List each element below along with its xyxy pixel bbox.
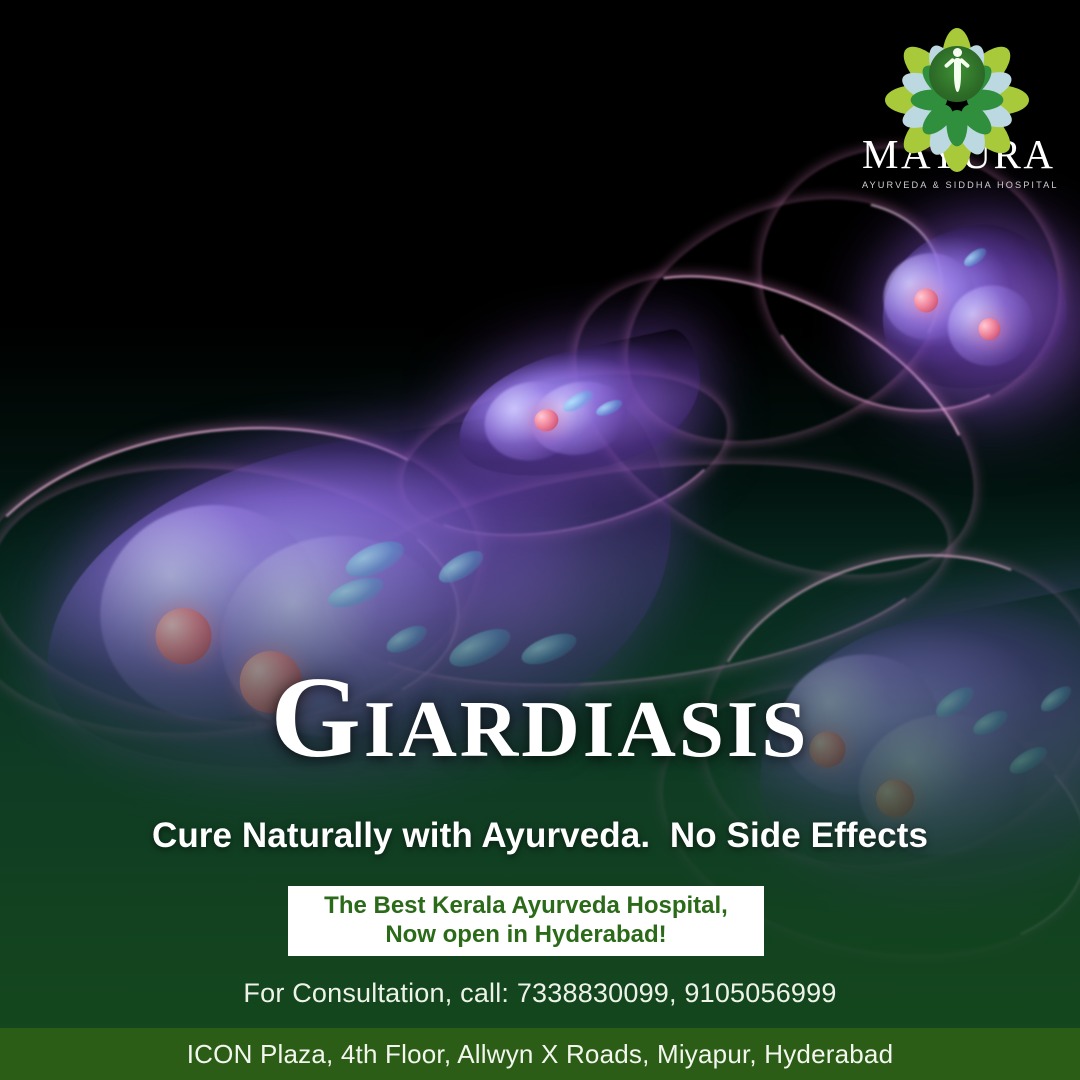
logo-tagline: AYURVEDA & SIDDHA HOSPITAL [862,180,1052,190]
poster-canvas: MAYURA AYURVEDA & SIDDHA HOSPITAL Giardi… [0,0,1080,1080]
brand-logo: MAYURA AYURVEDA & SIDDHA HOSPITAL [862,22,1052,190]
promo-line-1: The Best Kerala Ayurveda Hospital, [324,893,728,920]
mandala-lotus-figure-icon [905,22,1009,126]
page-title: Giardiasis [0,660,1080,776]
human-figure-icon [945,46,969,102]
promo-line-2: Now open in Hyderabad! [385,922,666,949]
subheadline: Cure Naturally with Ayurveda. No Side Ef… [0,816,1080,856]
address-text: ICON Plaza, 4th Floor, Allwyn X Roads, M… [187,1039,894,1070]
promo-callout-box: The Best Kerala Ayurveda Hospital, Now o… [288,886,764,956]
address-bar: ICON Plaza, 4th Floor, Allwyn X Roads, M… [0,1028,1080,1080]
consultation-phone-text[interactable]: For Consultation, call: 7338830099, 9105… [0,978,1080,1009]
